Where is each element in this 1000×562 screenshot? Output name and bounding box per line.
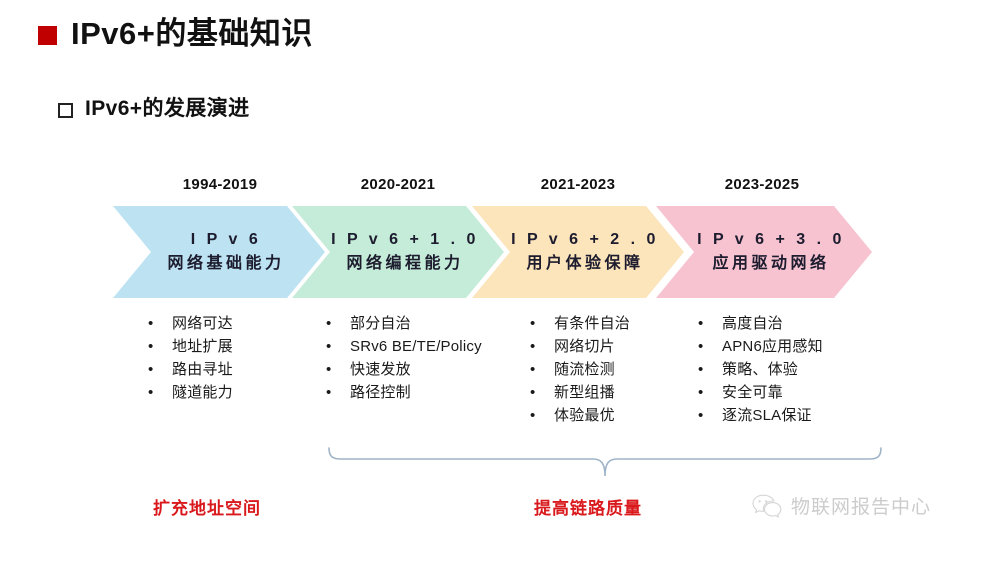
timeline-phase-chevron[interactable]: I P v 6 + 3 . 0应用驱动网络 <box>656 206 872 298</box>
bullet-column: •部分自治•SRv6 BE/TE/Policy•快速发放•路径控制 <box>326 312 482 404</box>
grouping-brace <box>325 446 885 480</box>
bullet-dot-icon: • <box>326 312 350 335</box>
phase-name-label: I P v 6 + 2 . 0 <box>497 228 659 252</box>
list-item: •APN6应用感知 <box>698 335 823 358</box>
red-square-bullet-icon <box>38 26 57 45</box>
list-item-label: 路由寻址 <box>172 358 233 381</box>
list-item: •随流检测 <box>530 358 630 381</box>
phase-year-label: 2020-2021 <box>361 176 435 193</box>
section-subtitle: IPv6+的发展演进 <box>58 98 249 119</box>
bullet-dot-icon: • <box>698 335 722 358</box>
bullet-dot-icon: • <box>326 335 350 358</box>
wechat-logo-icon <box>752 493 782 518</box>
list-item-label: 部分自治 <box>350 312 411 335</box>
list-item: •高度自治 <box>698 312 823 335</box>
watermark-text: 物联网报告中心 <box>791 492 931 519</box>
bullet-dot-icon: • <box>530 358 554 381</box>
bullet-dot-icon: • <box>148 312 172 335</box>
bullet-dot-icon: • <box>698 312 722 335</box>
bullet-dot-icon: • <box>530 335 554 358</box>
list-item: •快速发放 <box>326 358 482 381</box>
phase-capability-label: 应用驱动网络 <box>698 252 829 276</box>
phase-capability-label: 网络编程能力 <box>332 252 463 276</box>
list-item: •策略、体验 <box>698 358 823 381</box>
list-item-label: 体验最优 <box>554 404 615 427</box>
phase-name-label: I P v 6 + 1 . 0 <box>317 228 479 252</box>
list-item-label: APN6应用感知 <box>722 335 823 358</box>
list-item: •有条件自治 <box>530 312 630 335</box>
bullet-columns-group: •网络可达•地址扩展•路由寻址•隧道能力•部分自治•SRv6 BE/TE/Pol… <box>0 312 1000 437</box>
list-item: •逐流SLA保证 <box>698 404 823 427</box>
watermark: 物联网报告中心 <box>752 492 931 519</box>
page-title-text: IPv6+的基础知识 <box>71 18 313 49</box>
footer-caption: 扩充地址空间 <box>153 494 261 519</box>
hollow-square-bullet-icon <box>58 103 73 118</box>
footer-caption: 提高链路质量 <box>534 494 642 519</box>
list-item-label: 随流检测 <box>554 358 615 381</box>
list-item: •SRv6 BE/TE/Policy <box>326 335 482 358</box>
bullet-dot-icon: • <box>530 404 554 427</box>
page-title: IPv6+的基础知识 <box>38 18 313 49</box>
list-item: •网络可达 <box>148 312 233 335</box>
phase-name-label: I P v 6 + 3 . 0 <box>683 228 845 252</box>
list-item-label: SRv6 BE/TE/Policy <box>350 335 482 358</box>
list-item-label: 逐流SLA保证 <box>722 404 812 427</box>
list-item: •地址扩展 <box>148 335 233 358</box>
list-item: •部分自治 <box>326 312 482 335</box>
bullet-dot-icon: • <box>326 381 350 404</box>
section-subtitle-text: IPv6+的发展演进 <box>85 98 249 119</box>
phase-year-label: 2023-2025 <box>725 176 799 193</box>
bullet-dot-icon: • <box>148 358 172 381</box>
phase-year-label: 2021-2023 <box>541 176 615 193</box>
list-item: •隧道能力 <box>148 381 233 404</box>
bullet-column: •有条件自治•网络切片•随流检测•新型组播•体验最优 <box>530 312 630 427</box>
list-item-label: 地址扩展 <box>172 335 233 358</box>
list-item: •路由寻址 <box>148 358 233 381</box>
list-item-label: 网络可达 <box>172 312 233 335</box>
list-item-label: 高度自治 <box>722 312 783 335</box>
list-item: •路径控制 <box>326 381 482 404</box>
phase-year-label: 1994-2019 <box>183 176 257 193</box>
list-item-label: 新型组播 <box>554 381 615 404</box>
list-item-label: 安全可靠 <box>722 381 783 404</box>
timeline-phase-chevron[interactable]: I P v 6网络基础能力 <box>113 206 325 298</box>
bullet-dot-icon: • <box>148 335 172 358</box>
bullet-column: •网络可达•地址扩展•路由寻址•隧道能力 <box>148 312 233 404</box>
phase-capability-label: 用户体验保障 <box>512 252 643 276</box>
list-item-label: 策略、体验 <box>722 358 798 381</box>
list-item-label: 快速发放 <box>350 358 411 381</box>
list-item-label: 隧道能力 <box>172 381 233 404</box>
list-item-label: 路径控制 <box>350 381 411 404</box>
bullet-dot-icon: • <box>148 381 172 404</box>
bullet-dot-icon: • <box>698 404 722 427</box>
brace-icon <box>325 446 885 480</box>
timeline-chevron-row: 1994-2019I P v 6网络基础能力2020-2021I P v 6 +… <box>0 176 1000 301</box>
list-item: •网络切片 <box>530 335 630 358</box>
bullet-dot-icon: • <box>530 381 554 404</box>
bullet-column: •高度自治•APN6应用感知•策略、体验•安全可靠•逐流SLA保证 <box>698 312 823 427</box>
bullet-dot-icon: • <box>698 358 722 381</box>
bullet-dot-icon: • <box>698 381 722 404</box>
list-item: •新型组播 <box>530 381 630 404</box>
bullet-dot-icon: • <box>530 312 554 335</box>
list-item: •体验最优 <box>530 404 630 427</box>
bullet-dot-icon: • <box>326 358 350 381</box>
phase-name-label: I P v 6 <box>177 228 261 252</box>
list-item-label: 有条件自治 <box>554 312 630 335</box>
phase-capability-label: 网络基础能力 <box>153 252 284 276</box>
list-item: •安全可靠 <box>698 381 823 404</box>
list-item-label: 网络切片 <box>554 335 615 358</box>
